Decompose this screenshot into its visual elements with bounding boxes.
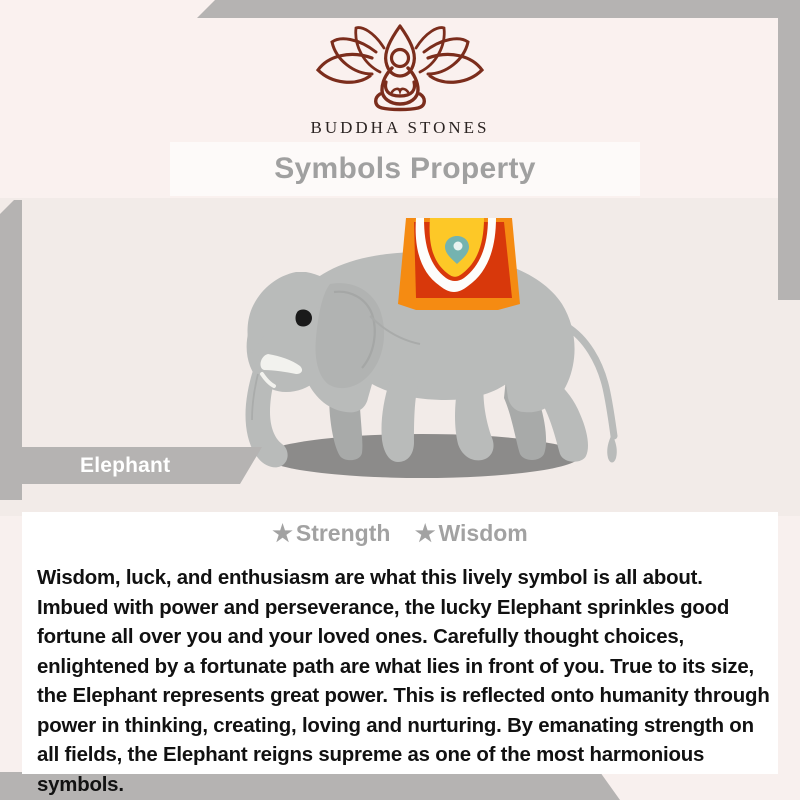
symbol-attributes: ★Strength ★Wisdom (22, 520, 778, 547)
attribute-wisdom: ★Wisdom (415, 520, 528, 547)
symbol-description-text: Wisdom, luck, and enthusiasm are what th… (37, 564, 775, 800)
symbol-name-banner: Elephant (22, 447, 262, 484)
symbol-property-card: BUDDHA STONES Symbols Property (0, 0, 800, 800)
attribute-strength: ★Strength (272, 520, 390, 547)
symbol-description-panel: ★Strength ★Wisdom Wisdom, luck, and enth… (22, 512, 778, 774)
page-title: Symbols Property (274, 152, 536, 186)
symbol-name: Elephant (80, 454, 170, 478)
lotus-meditation-icon (306, 22, 494, 114)
page-title-band: Symbols Property (170, 142, 640, 196)
star-icon: ★ (415, 520, 436, 546)
brand-name: BUDDHA STONES (0, 118, 800, 138)
attribute-strength-label: Strength (296, 520, 391, 546)
brand-logo: BUDDHA STONES (0, 22, 800, 138)
attribute-wisdom-label: Wisdom (439, 520, 528, 546)
saddle-gem-highlight (454, 242, 463, 251)
star-icon: ★ (272, 520, 293, 546)
